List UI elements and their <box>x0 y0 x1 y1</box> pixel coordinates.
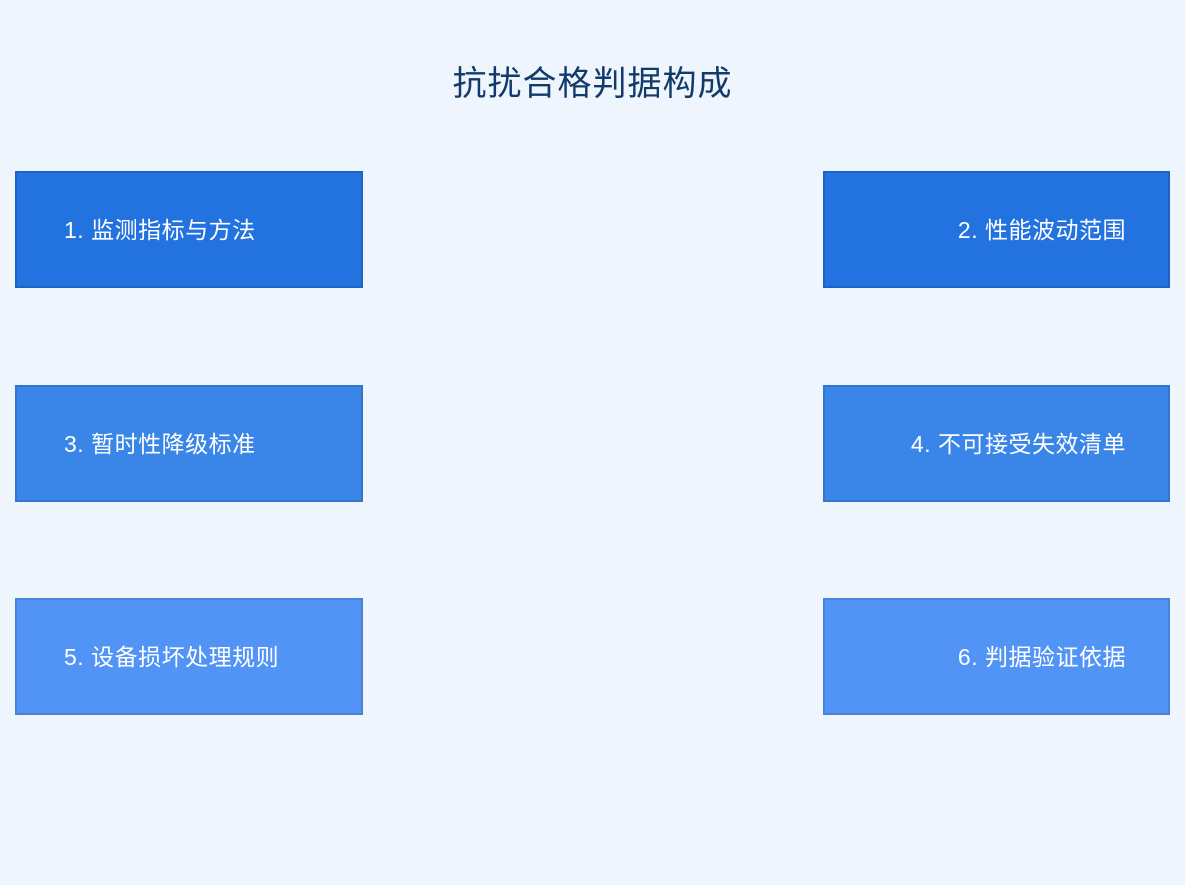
diagram-node-1[interactable]: 1. 监测指标与方法 <box>15 171 363 288</box>
diagram-node-label: 3. 暂时性降级标准 <box>64 429 256 459</box>
diagram-node-label: 6. 判据验证依据 <box>958 642 1126 672</box>
diagram-node-5[interactable]: 5. 设备损坏处理规则 <box>15 598 363 715</box>
diagram-node-label: 4. 不可接受失效清单 <box>911 429 1126 459</box>
diagram-node-6[interactable]: 6. 判据验证依据 <box>823 598 1170 715</box>
diagram-node-4[interactable]: 4. 不可接受失效清单 <box>823 385 1170 502</box>
page-title: 抗扰合格判据构成 <box>0 62 1185 106</box>
diagram-node-label: 2. 性能波动范围 <box>958 215 1126 245</box>
diagram-node-3[interactable]: 3. 暂时性降级标准 <box>15 385 363 502</box>
diagram-node-2[interactable]: 2. 性能波动范围 <box>823 171 1170 288</box>
diagram-node-label: 1. 监测指标与方法 <box>64 215 256 245</box>
diagram-node-label: 5. 设备损坏处理规则 <box>64 642 279 672</box>
slide-canvas: 抗扰合格判据构成 1. 监测指标与方法 2. 性能波动范围 3. 暂时性降级标准… <box>0 0 1185 885</box>
